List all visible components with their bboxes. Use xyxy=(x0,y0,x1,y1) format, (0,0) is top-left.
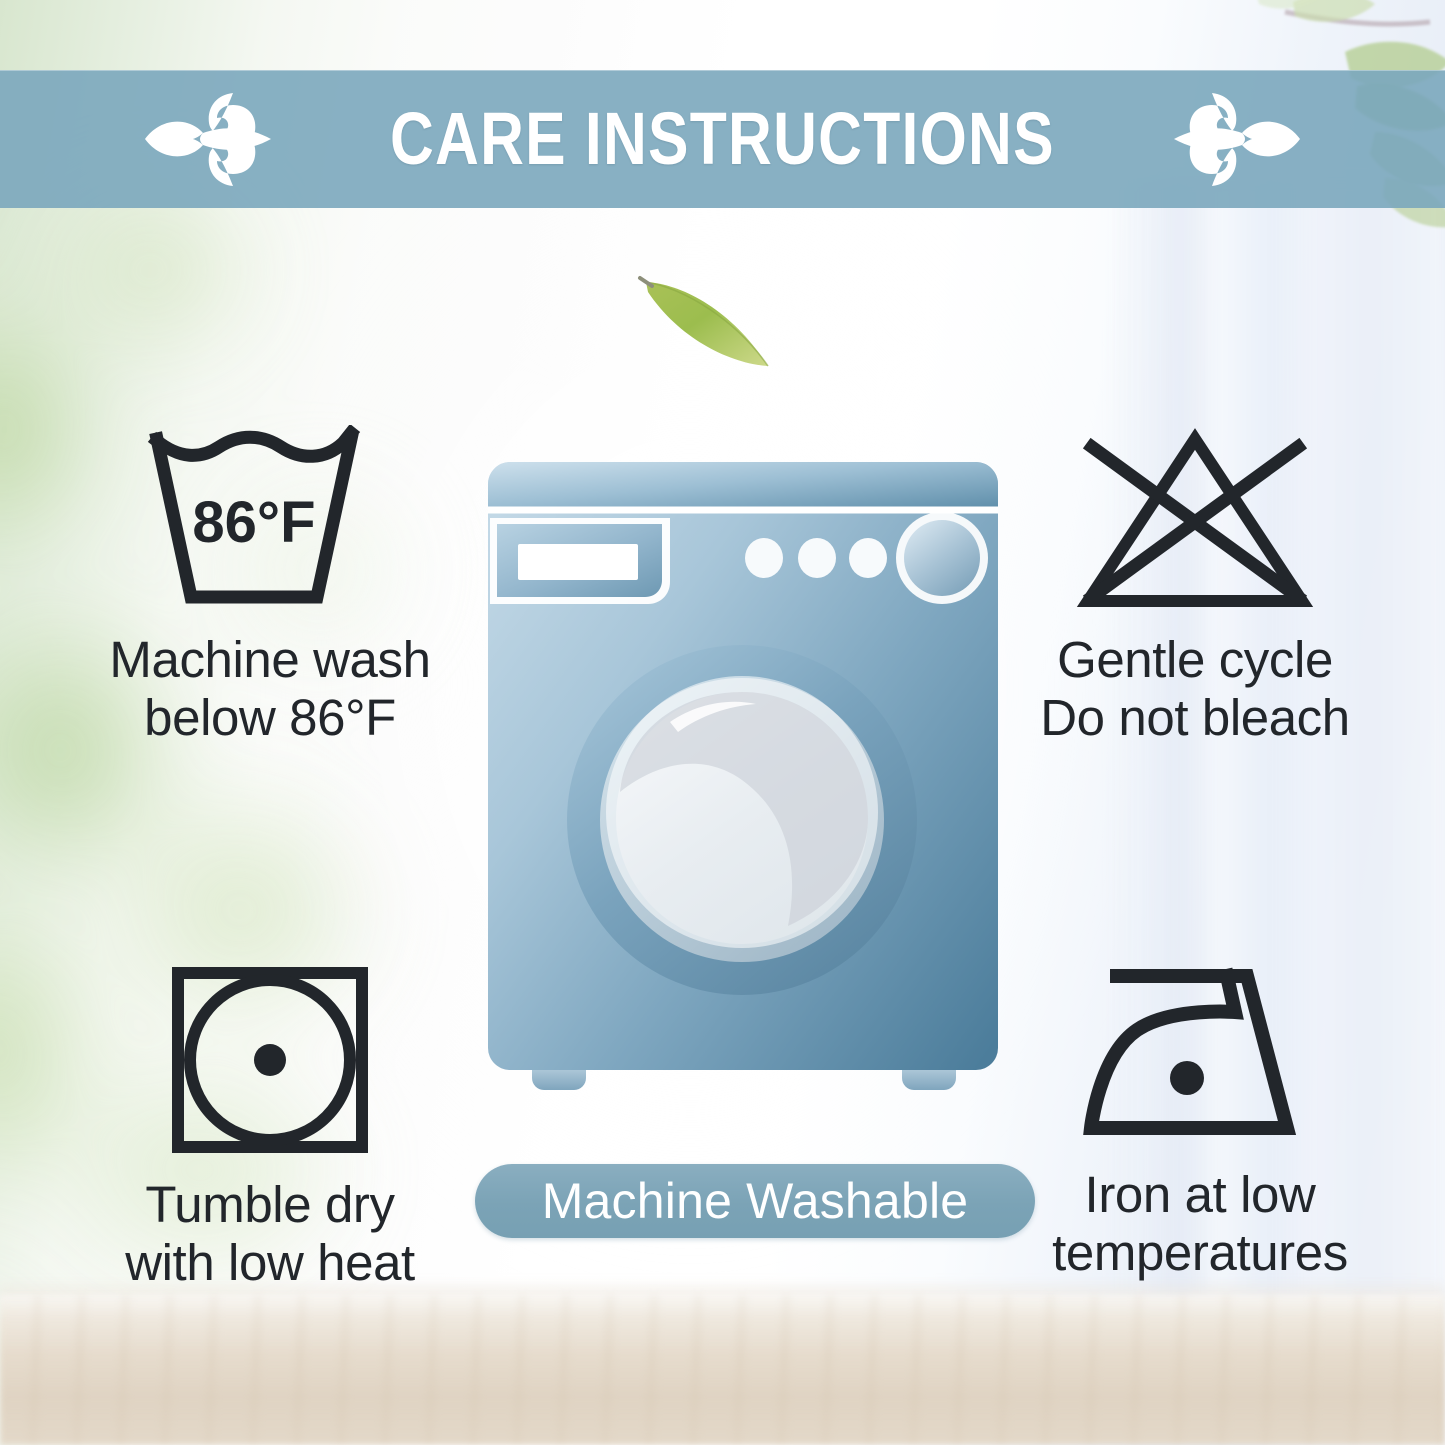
wash-tub-icon: 86°F xyxy=(145,425,395,615)
care-symbol-caption: Tumble dry with low heat xyxy=(125,1176,415,1292)
header-banner: CARE INSTRUCTIONS xyxy=(0,70,1445,208)
care-symbol-iron-low: Iron at low temperatures xyxy=(960,960,1440,1282)
page-title: CARE INSTRUCTIONS xyxy=(357,102,1087,176)
washing-machine-illustration xyxy=(470,440,1015,1125)
washer-knob xyxy=(904,520,980,596)
washer-control-dot xyxy=(798,538,836,578)
care-symbol-do-not-bleach: Gentle cycle Do not bleach xyxy=(955,425,1435,747)
care-symbol-tumble-dry: Tumble dry with low heat xyxy=(40,960,500,1292)
care-symbol-caption: Machine wash below 86°F xyxy=(109,631,430,747)
fleur-de-lis-icon xyxy=(137,87,277,192)
tumble-dry-low-icon xyxy=(165,960,375,1160)
triangle-crossed-out-icon xyxy=(1070,425,1320,615)
iron-one-dot-icon xyxy=(1075,960,1325,1150)
green-leaf-icon xyxy=(636,268,786,378)
wash-temperature-value: 86°F xyxy=(192,490,315,555)
badge-label: Machine Washable xyxy=(542,1176,969,1226)
washer-drawer-slot xyxy=(518,544,638,580)
care-symbol-caption: Gentle cycle Do not bleach xyxy=(1040,631,1350,747)
washer-lid xyxy=(488,462,998,510)
washer-control-dot xyxy=(849,538,887,578)
wooden-table-grain xyxy=(0,1295,1445,1445)
washer-control-dot xyxy=(745,538,783,578)
care-instructions-infographic: CARE INSTRUCTIONS 86 xyxy=(0,0,1445,1445)
machine-washable-badge: Machine Washable xyxy=(475,1164,1035,1238)
fleur-de-lis-icon xyxy=(1168,87,1308,192)
care-symbol-caption: Iron at low temperatures xyxy=(1052,1166,1348,1282)
care-symbol-machine-wash: 86°F Machine wash below 86°F xyxy=(30,425,510,747)
